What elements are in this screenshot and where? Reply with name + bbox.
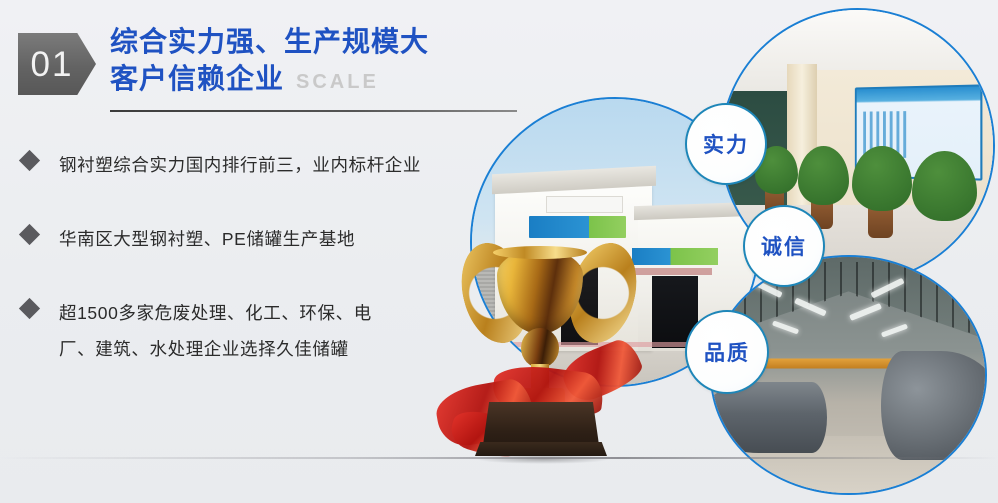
trophy-graphic <box>435 236 645 486</box>
heading-line-2: 客户信赖企业 <box>110 61 284 98</box>
trophy-rim <box>493 246 587 259</box>
photo-collage: 实力 诚信 品质 <box>455 0 998 503</box>
trophy-shadow <box>475 454 611 464</box>
bullet-text: 超1500多家危废处理、化工、环保、电 厂、建筑、水处理企业选择久佳储罐 <box>59 296 372 368</box>
bullet-text: 华南区大型钢衬塑、PE储罐生产基地 <box>59 222 355 258</box>
bullet-text-line: 超1500多家危废处理、化工、环保、电 <box>59 296 372 332</box>
list-item: 华南区大型钢衬塑、PE储罐生产基地 <box>22 222 492 258</box>
heading-english-label: SCALE <box>296 69 379 95</box>
promo-banner: 01 综合实力强、生产规模大 客户信赖企业 SCALE 钢衬塑综合实力国内排行前… <box>0 0 998 503</box>
bullet-text: 钢衬塑综合实力国内排行前三，业内标杆企业 <box>59 148 421 184</box>
floor-reflection-line <box>0 457 998 459</box>
hi-tech-enterprise-sign <box>529 216 626 237</box>
section-number: 01 <box>31 47 84 82</box>
badge-label: 品质 <box>704 337 750 367</box>
bullet-text-line: 厂、建筑、水处理企业选择久佳储罐 <box>59 332 372 368</box>
secondary-sign <box>632 248 718 265</box>
feature-bullet-list: 钢衬塑综合实力国内排行前三，业内标杆企业 华南区大型钢衬塑、PE储罐生产基地 超… <box>22 148 492 406</box>
badge-label: 诚信 <box>761 231 807 261</box>
diamond-bullet-icon <box>19 150 40 171</box>
company-name-sign <box>546 196 622 212</box>
storage-tank-right <box>881 351 987 460</box>
badge-label: 实力 <box>703 129 749 159</box>
diamond-bullet-icon <box>19 224 40 245</box>
bullet-text-line: 华南区大型钢衬塑、PE储罐生产基地 <box>59 222 355 258</box>
badge-integrity: 诚信 <box>743 205 825 287</box>
bullet-text-line: 钢衬塑综合实力国内排行前三，业内标杆企业 <box>59 148 421 184</box>
list-item: 钢衬塑综合实力国内排行前三，业内标杆企业 <box>22 148 492 184</box>
trophy-knob <box>521 328 559 368</box>
list-item: 超1500多家危废处理、化工、环保、电 厂、建筑、水处理企业选择久佳储罐 <box>22 296 492 368</box>
badge-strength: 实力 <box>685 103 767 185</box>
badge-quality: 品质 <box>685 310 769 394</box>
diamond-bullet-icon <box>19 298 40 319</box>
section-number-badge: 01 <box>18 33 96 95</box>
